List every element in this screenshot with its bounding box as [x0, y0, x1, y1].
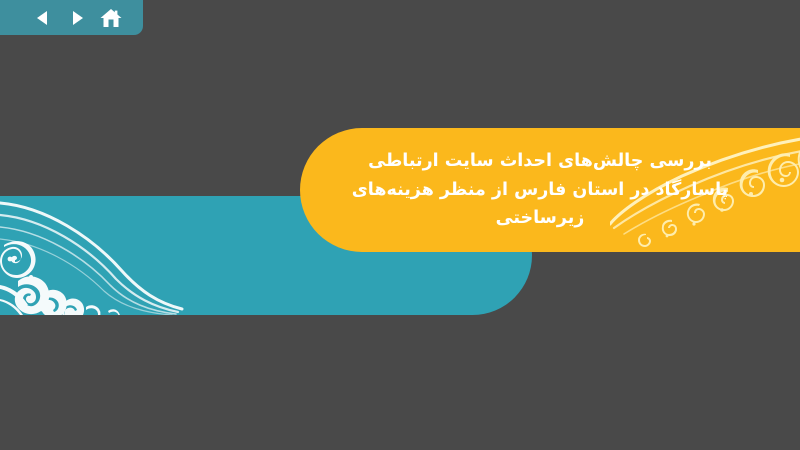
back-icon: [33, 8, 53, 28]
slide-canvas: بررسی چالش‌های احداث سایت ارتباطی پاسارگ…: [0, 0, 800, 450]
title-banner: بررسی چالش‌های احداث سایت ارتباطی پاسارگ…: [300, 128, 800, 252]
title-line-2: پاسارگاد در استان فارس از منظر هزینه‌های: [325, 176, 755, 204]
slide-title: بررسی چالش‌های احداث سایت ارتباطی پاسارگ…: [325, 147, 755, 232]
arabesque-corner-ornament-icon: [0, 196, 200, 315]
home-icon: [99, 7, 123, 29]
title-line-1: بررسی چالش‌های احداث سایت ارتباطی: [325, 147, 755, 175]
title-line-3: زیرساختی: [325, 204, 755, 232]
home-button[interactable]: [94, 3, 128, 33]
forward-button[interactable]: [60, 3, 94, 33]
navigation-bar: [0, 0, 143, 35]
back-button[interactable]: [26, 3, 60, 33]
forward-icon: [67, 8, 87, 28]
